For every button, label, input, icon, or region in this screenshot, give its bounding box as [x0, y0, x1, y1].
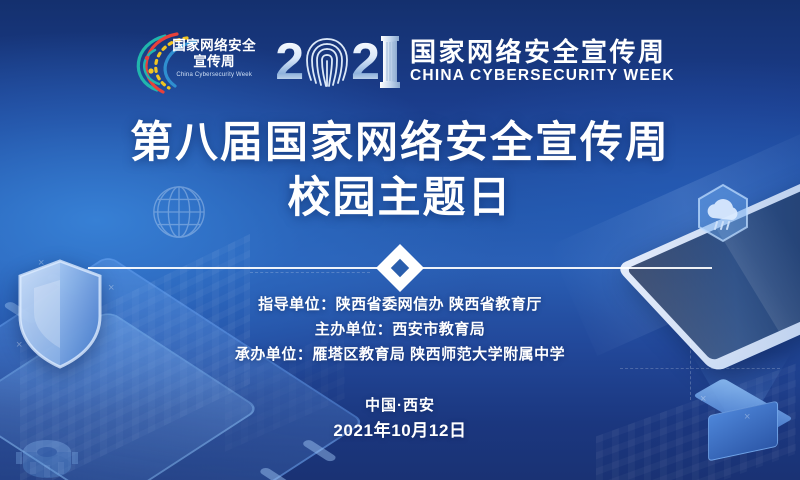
cybersecurity-week-title: 国家网络安全宣传周 CHINA CYBERSECURITY WEEK [410, 39, 675, 84]
emblem-text: 国家网络安全 宣传周 China Cybersecurity Week [171, 38, 257, 78]
organizer-line-host: 主办单位：西安市教育局 [0, 317, 800, 342]
title-line-1: 第八届国家网络安全宣传周 [0, 118, 800, 169]
year-lockup: 2 2 [275, 36, 675, 88]
pillar-icon [380, 36, 400, 88]
diamond-divider-icon [0, 253, 800, 283]
organizer-line-organizer: 承办单位：雁塔区教育局 陕西师范大学附属中学 [0, 342, 800, 367]
page-title: 第八届国家网络安全宣传周 校园主题日 [0, 118, 800, 223]
week-title-cn: 国家网络安全宣传周 [410, 39, 675, 66]
week-title-en: CHINA CYBERSECURITY WEEK [410, 67, 675, 85]
year-2021: 2 2 [275, 36, 400, 88]
year-digit-2b: 2 [351, 36, 379, 88]
year-digit-2a: 2 [275, 36, 303, 88]
event-footer: 中国·西安 2021年10月12日 [0, 394, 800, 444]
event-date: 2021年10月12日 [0, 418, 800, 444]
divider-rule-left [88, 267, 382, 269]
poster-canvas: × × × × × [0, 0, 800, 480]
event-location: 中国·西安 [0, 394, 800, 418]
organizer-list: 指导单位：陕西省委网信办 陕西省教育厅 主办单位：西安市教育局 承办单位：雁塔区… [0, 292, 800, 367]
divider-rule-right [418, 267, 712, 269]
header-lockup: 国家网络安全 宣传周 China Cybersecurity Week 2 [0, 24, 800, 100]
organizer-line-guidance: 指导单位：陕西省委网信办 陕西省教育厅 [0, 292, 800, 317]
divider-diamond [376, 244, 424, 292]
emblem-english: China Cybersecurity Week [171, 72, 257, 78]
emblem-line2: 宣传周 [171, 54, 257, 70]
title-line-2: 校园主题日 [0, 173, 800, 224]
poster-content: 国家网络安全 宣传周 China Cybersecurity Week 2 [0, 0, 800, 480]
emblem-line1: 国家网络安全 [171, 38, 257, 54]
fingerprint-icon [304, 36, 350, 88]
cybersecurity-week-emblem: 国家网络安全 宣传周 China Cybersecurity Week [125, 28, 257, 96]
